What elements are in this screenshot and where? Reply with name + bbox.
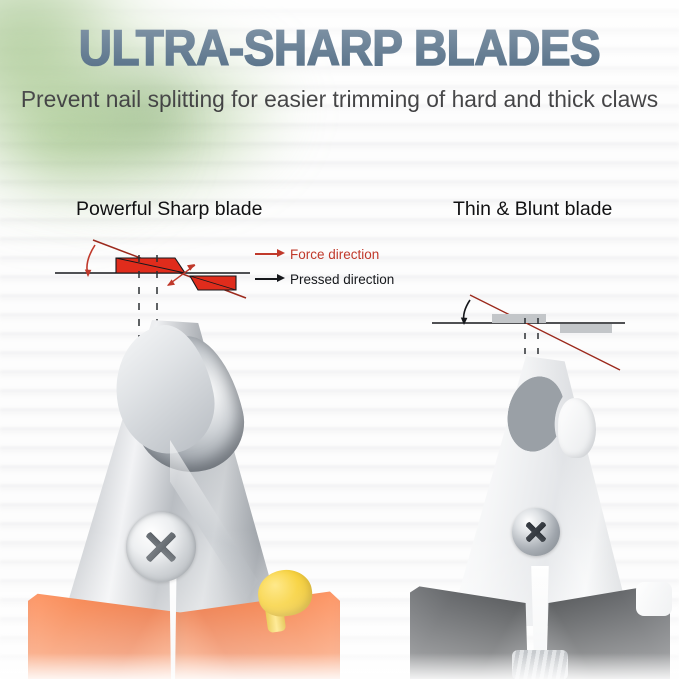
infographic-page: ULTRA-SHARP BLADES Prevent nail splittin… [0, 0, 679, 679]
bottom-fade [0, 653, 679, 679]
background-vignette [0, 0, 679, 679]
